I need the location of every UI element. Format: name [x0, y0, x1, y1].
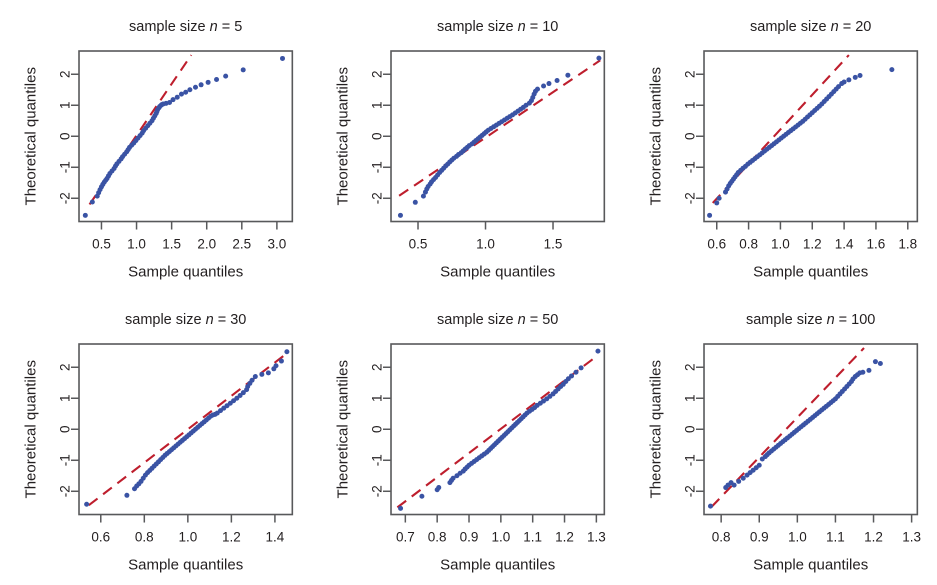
x-axis: 0.70.80.91.01.11.21.3: [396, 514, 606, 544]
data-point: [253, 374, 258, 379]
y-tick-label: 2: [682, 71, 697, 79]
data-point: [579, 365, 584, 370]
data-point: [214, 77, 219, 82]
y-tick-label: 0: [58, 133, 73, 141]
y-tick-label: -2: [682, 192, 697, 204]
y-tick-label: -2: [58, 485, 73, 497]
reference-line: [399, 60, 600, 195]
data-point: [714, 200, 719, 205]
x-axis-title: Sample quantiles: [753, 556, 868, 573]
y-axis: -2-1012: [370, 363, 392, 497]
data-point: [852, 75, 857, 80]
data-point: [708, 503, 713, 508]
y-tick-label: 1: [682, 102, 697, 110]
x-tick-label: 0.9: [460, 529, 479, 544]
y-tick-label: 2: [58, 71, 73, 79]
y-tick-label: -2: [682, 485, 697, 497]
x-tick-label: 0.9: [750, 529, 769, 544]
x-axis: 0.51.01.5: [409, 222, 563, 252]
y-axis-title: Theoretical quantiles: [335, 360, 352, 498]
data-points: [707, 67, 894, 218]
data-point: [199, 82, 204, 87]
data-point: [183, 90, 188, 95]
data-point: [878, 361, 883, 366]
panel-title: sample size n = 30: [125, 312, 246, 328]
data-point: [555, 78, 560, 83]
x-tick-label: 1.0: [492, 529, 511, 544]
y-tick-label: 0: [682, 133, 697, 141]
data-point: [866, 367, 871, 372]
x-tick-label: 2.0: [197, 237, 216, 252]
data-point: [206, 80, 211, 85]
data-point: [756, 462, 761, 467]
x-axis-title: Sample quantiles: [440, 556, 555, 573]
x-tick-label: 0.5: [409, 237, 428, 252]
qq-panel-n-20: sample size n = 200.60.81.01.21.41.61.8-…: [625, 0, 937, 293]
y-tick-label: 0: [58, 425, 73, 433]
y-axis-title: Theoretical quantiles: [647, 67, 664, 205]
x-tick-label: 1.4: [834, 237, 853, 252]
x-tick-label: 1.0: [178, 529, 197, 544]
data-point: [566, 73, 571, 78]
data-point: [716, 196, 721, 201]
y-axis-title: Theoretical quantiles: [23, 360, 40, 498]
y-tick-label: 0: [370, 133, 385, 141]
qq-panel-n-30: sample size n = 300.60.81.01.21.4-2-1012…: [0, 293, 312, 585]
data-point: [274, 363, 279, 368]
x-tick-label: 0.8: [135, 529, 154, 544]
data-point: [569, 373, 574, 378]
x-tick-label: 1.4: [266, 529, 285, 544]
panel-title: sample size n = 20: [750, 19, 871, 35]
data-point: [846, 77, 851, 82]
data-point: [124, 492, 129, 497]
data-point: [547, 81, 552, 86]
panel-title: sample size n = 5: [129, 19, 242, 35]
y-tick-label: -2: [58, 192, 73, 204]
plot-frame: [704, 344, 917, 515]
x-tick-label: 3.0: [267, 237, 286, 252]
y-tick-label: -1: [682, 161, 697, 173]
y-axis: -2-1012: [370, 71, 392, 205]
y-tick-label: 1: [58, 102, 73, 110]
x-tick-label: 1.0: [127, 237, 146, 252]
y-axis: -2-1012: [682, 71, 704, 205]
x-axis: 0.51.01.52.02.53.0: [92, 222, 286, 252]
x-tick-label: 0.6: [91, 529, 110, 544]
x-tick-label: 1.1: [826, 529, 845, 544]
data-points: [708, 359, 883, 508]
y-tick-label: 1: [682, 394, 697, 402]
data-point: [284, 349, 289, 354]
y-tick-label: 2: [682, 363, 697, 371]
x-axis-title: Sample quantiles: [128, 556, 243, 573]
x-tick-label: 0.8: [428, 529, 447, 544]
y-tick-label: -1: [370, 454, 385, 466]
data-point: [84, 501, 89, 506]
y-tick-label: -1: [58, 454, 73, 466]
x-tick-label: 0.8: [739, 237, 758, 252]
y-tick-label: -1: [58, 161, 73, 173]
y-tick-label: -1: [682, 454, 697, 466]
x-tick-label: 0.6: [707, 237, 726, 252]
panel-title: sample size n = 10: [437, 19, 558, 35]
y-axis-title: Theoretical quantiles: [335, 67, 352, 205]
data-point: [541, 84, 546, 89]
x-axis-title: Sample quantiles: [753, 264, 868, 281]
data-point: [857, 73, 862, 78]
x-tick-label: 1.2: [864, 529, 883, 544]
x-axis: 0.60.81.01.21.41.61.8: [707, 222, 917, 252]
panel-title: sample size n = 100: [746, 312, 875, 328]
y-tick-label: 2: [370, 71, 385, 79]
data-point: [187, 87, 192, 92]
y-tick-label: 1: [370, 394, 385, 402]
y-tick-label: -2: [370, 192, 385, 204]
panel-title: sample size n = 50: [437, 312, 558, 328]
data-points: [84, 349, 289, 507]
data-point: [398, 505, 403, 510]
data-point: [83, 213, 88, 218]
x-axis-title: Sample quantiles: [440, 264, 555, 281]
data-point: [707, 213, 712, 218]
data-point: [860, 369, 865, 374]
x-tick-label: 1.6: [866, 237, 885, 252]
data-point: [413, 200, 418, 205]
data-point: [535, 87, 540, 92]
plot-frame: [704, 51, 917, 222]
qq-panel-n-10: sample size n = 100.51.01.5-2-1012Sample…: [312, 0, 624, 293]
x-tick-label: 1.0: [476, 237, 495, 252]
data-point: [171, 97, 176, 102]
y-axis: -2-1012: [682, 363, 704, 497]
y-tick-label: 0: [370, 425, 385, 433]
data-point: [574, 369, 579, 374]
data-point: [266, 370, 271, 375]
x-tick-label: 1.1: [524, 529, 543, 544]
x-tick-label: 0.5: [92, 237, 111, 252]
y-tick-label: 1: [58, 394, 73, 402]
y-tick-label: -2: [370, 485, 385, 497]
data-point: [736, 478, 741, 483]
data-point: [731, 482, 736, 487]
qq-plot-figure: sample size n = 50.51.01.52.02.53.0-2-10…: [0, 0, 937, 585]
x-tick-label: 1.2: [803, 237, 822, 252]
data-point: [420, 493, 425, 498]
y-axis-title: Theoretical quantiles: [23, 67, 40, 205]
y-tick-label: 2: [58, 363, 73, 371]
data-point: [223, 74, 228, 79]
y-tick-label: 0: [682, 425, 697, 433]
plot-frame: [79, 51, 292, 222]
y-axis: -2-1012: [58, 71, 80, 205]
data-point: [259, 371, 264, 376]
x-tick-label: 2.5: [232, 237, 251, 252]
x-tick-label: 1.5: [544, 237, 563, 252]
x-tick-label: 1.0: [788, 529, 807, 544]
data-point: [90, 199, 95, 204]
x-tick-label: 1.2: [555, 529, 574, 544]
data-point: [889, 67, 894, 72]
x-tick-label: 0.8: [711, 529, 730, 544]
data-point: [193, 85, 198, 90]
data-point: [398, 213, 403, 218]
x-tick-label: 1.2: [222, 529, 241, 544]
x-tick-label: 1.3: [902, 529, 921, 544]
qq-panel-n-50: sample size n = 500.70.80.91.01.11.21.3-…: [312, 293, 624, 585]
data-point: [873, 359, 878, 364]
data-points: [83, 56, 285, 218]
x-tick-label: 1.5: [162, 237, 181, 252]
qq-panel-n-100: sample size n = 1000.80.91.01.11.21.3-2-…: [625, 293, 937, 585]
data-point: [280, 56, 285, 61]
x-axis: 0.80.91.01.11.21.3: [711, 514, 920, 544]
data-point: [241, 67, 246, 72]
y-tick-label: -1: [370, 161, 385, 173]
y-axis-title: Theoretical quantiles: [647, 360, 664, 498]
y-tick-label: 2: [370, 363, 385, 371]
data-point: [841, 80, 846, 85]
x-tick-label: 0.7: [396, 529, 415, 544]
data-point: [279, 358, 284, 363]
data-point: [597, 56, 602, 61]
data-point: [437, 485, 442, 490]
plot-frame: [391, 344, 604, 515]
y-axis: -2-1012: [58, 363, 80, 497]
data-point: [596, 348, 601, 353]
data-point: [175, 95, 180, 100]
x-tick-label: 1.0: [771, 237, 790, 252]
qq-panel-n-5: sample size n = 50.51.01.52.02.53.0-2-10…: [0, 0, 312, 293]
x-tick-label: 1.8: [898, 237, 917, 252]
x-axis: 0.60.81.01.21.4: [91, 514, 284, 544]
x-axis-title: Sample quantiles: [128, 264, 243, 281]
y-tick-label: 1: [370, 102, 385, 110]
x-tick-label: 1.3: [587, 529, 606, 544]
